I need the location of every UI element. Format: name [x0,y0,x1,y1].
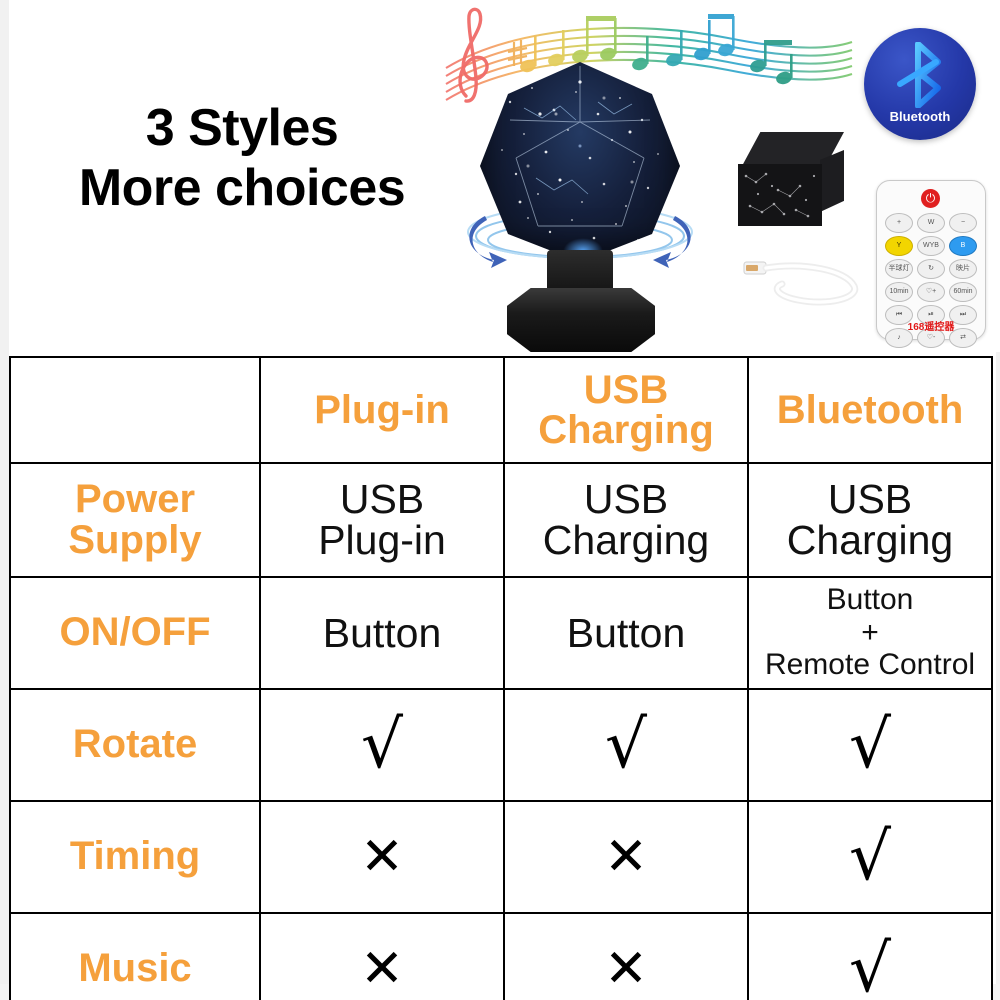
value-cell-onoff-plugin: Button [260,577,504,689]
usb-cable-image [742,248,872,312]
hero-section: 3 Styles More choices [0,0,1000,352]
page-title: 3 Styles More choices [42,98,442,219]
product-comparison-infographic: 3 Styles More choices [0,0,1000,1000]
feature-label-line1: Timing [15,836,255,877]
feature-cell-music: Music [10,913,260,1000]
feature-label-line1: Music [15,948,255,989]
comparison-table: Plug-in USB Charging Bluetooth Power Sup… [9,356,993,1000]
header-cell-usb-charging: USB Charging [504,357,748,463]
gift-box-side [820,150,844,212]
feature-cell-power-supply: Power Supply [10,463,260,577]
value-line1: Button [753,584,987,616]
headline-line-1: 3 Styles [146,99,339,157]
remote-button: W [917,213,945,233]
value-line1: Button [265,613,499,654]
remote-button: ♡+ [917,282,945,302]
feature-label-line1: Power [15,479,255,520]
status-mark: ✕ [265,834,499,881]
value-line1: USB [753,479,987,520]
header-cell-empty [10,357,260,463]
value-line3: Remote Control [753,649,987,681]
gift-box-image [738,132,848,236]
remote-model-label: 168遥控器 [877,318,985,333]
remote-button: 半球灯 [885,259,913,279]
header-plugin-label: Plug-in [265,390,499,430]
bluetooth-badge-label: Bluetooth [864,109,976,124]
feature-label-line2: Supply [15,520,255,561]
status-mark: √ [753,939,987,998]
remote-control-image: ⏻ + W − Y WYB B 半球灯 ↻ 映片 10min ♡+ 60min … [876,180,986,340]
mark-cell-rotate-plugin: √ [260,689,504,801]
table-row: Timing ✕ ✕ √ [10,801,992,913]
value-cell-onoff-usb: Button [504,577,748,689]
status-mark: √ [509,715,743,774]
remote-button: + [885,213,913,233]
mark-cell-timing-bluetooth: √ [748,801,992,913]
value-line2: Charging [509,520,743,561]
value-line1: Button [509,613,743,654]
mark-cell-timing-usb: ✕ [504,801,748,913]
remote-button: Y [885,236,913,256]
remote-button: B [949,236,977,256]
header-cell-bluetooth: Bluetooth [748,357,992,463]
headline-line-2: More choices [42,158,442,218]
remote-button: WYB [917,236,945,256]
status-mark: √ [753,715,987,774]
remote-button: 10min [885,282,913,302]
status-mark: √ [753,827,987,886]
mark-cell-music-plugin: ✕ [260,913,504,1000]
mark-cell-music-usb: ✕ [504,913,748,1000]
remote-button: ↻ [917,259,945,279]
star-projector-image [455,62,705,352]
status-mark: ✕ [509,946,743,993]
status-mark: √ [265,715,499,774]
remote-button: 60min [949,282,977,302]
value-line2: Charging [753,520,987,561]
mark-cell-rotate-bluetooth: √ [748,689,992,801]
feature-label-line1: Rotate [15,724,255,765]
table-row: Music ✕ ✕ √ [10,913,992,1000]
value-cell-power-bluetooth: USB Charging [748,463,992,577]
projector-globe [480,62,680,262]
remote-button: − [949,213,977,233]
value-line1: USB [509,479,743,520]
remote-button: 映片 [949,259,977,279]
value-line1: USB [265,479,499,520]
value-cell-onoff-bluetooth: Button + Remote Control [748,577,992,689]
value-line2: + [753,617,987,649]
bluetooth-badge: Bluetooth [864,28,976,140]
gift-box-front [738,164,822,226]
header-cell-plugin: Plug-in [260,357,504,463]
feature-cell-rotate: Rotate [10,689,260,801]
feature-cell-timing: Timing [10,801,260,913]
mark-cell-rotate-usb: √ [504,689,748,801]
mark-cell-music-bluetooth: √ [748,913,992,1000]
feature-label-line1: ON/OFF [15,612,255,653]
feature-cell-onoff: ON/OFF [10,577,260,689]
value-cell-power-plugin: USB Plug-in [260,463,504,577]
status-mark: ✕ [509,834,743,881]
status-mark: ✕ [265,946,499,993]
table-row: Rotate √ √ √ [10,689,992,801]
table-row: ON/OFF Button Button Button + Remote Con… [10,577,992,689]
mark-cell-timing-plugin: ✕ [260,801,504,913]
bluetooth-icon [892,42,948,108]
value-line2: Plug-in [265,520,499,561]
value-cell-power-usb: USB Charging [504,463,748,577]
header-usb-line1: USB [509,370,743,410]
header-bluetooth-label: Bluetooth [753,390,987,430]
table-header-row: Plug-in USB Charging Bluetooth [10,357,992,463]
projector-base [507,288,655,352]
power-icon: ⏻ [921,189,940,208]
header-usb-line2: Charging [509,410,743,450]
right-edge-strip [996,352,1000,1000]
table-row: Power Supply USB Plug-in USB Charging US… [10,463,992,577]
